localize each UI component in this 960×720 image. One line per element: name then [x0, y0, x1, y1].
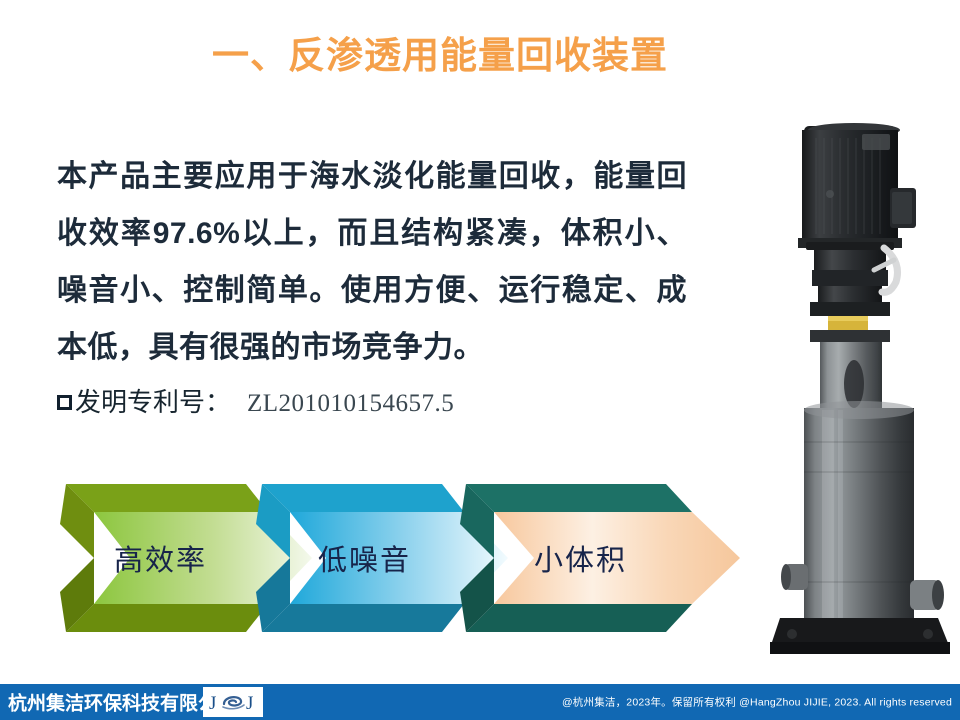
patent-number: ZL201010154657.5: [247, 390, 454, 418]
product-photo-pump: [762, 112, 958, 660]
body-paragraph: 本产品主要应用于海水淡化能量回收，能量回收效率97.6%以上，而且结构紧凑，体积…: [57, 148, 687, 376]
jij-swirl-logo-icon: J J: [206, 690, 260, 714]
chevron-label: 高效率: [114, 537, 207, 579]
footer-copyright: @杭州集洁，2023年。保留所有权利 @HangZhou JIJIE, 2023…: [562, 695, 952, 710]
feature-chevron-row: 高效率 低噪音: [60, 478, 720, 638]
chevron-label: 低噪音: [318, 537, 411, 579]
svg-text:J: J: [246, 693, 253, 714]
body-text-block: 本产品主要应用于海水淡化能量回收，能量回收效率97.6%以上，而且结构紧凑，体积…: [57, 148, 687, 376]
patent-label: 发明专利号：: [75, 382, 231, 419]
hollow-square-bullet-icon: [57, 395, 72, 410]
chevron-small-volume[interactable]: 小体积: [460, 478, 740, 638]
page-title: 一、反渗透用能量回收装置: [120, 34, 760, 78]
company-logo: J J: [203, 687, 263, 717]
patent-line: 发明专利号： ZL201010154657.5: [57, 382, 454, 419]
svg-text:J: J: [209, 693, 216, 714]
footer-company-name: 杭州集洁环保科技有限公司: [8, 689, 236, 716]
footer-bar: 杭州集洁环保科技有限公司 J J @杭州集洁，2023年。保留所有权利 @Han…: [0, 684, 960, 720]
slide-canvas: 一、反渗透用能量回收装置 本产品主要应用于海水淡化能量回收，能量回收效率97.6…: [0, 0, 960, 720]
chevron-label: 小体积: [534, 537, 627, 579]
